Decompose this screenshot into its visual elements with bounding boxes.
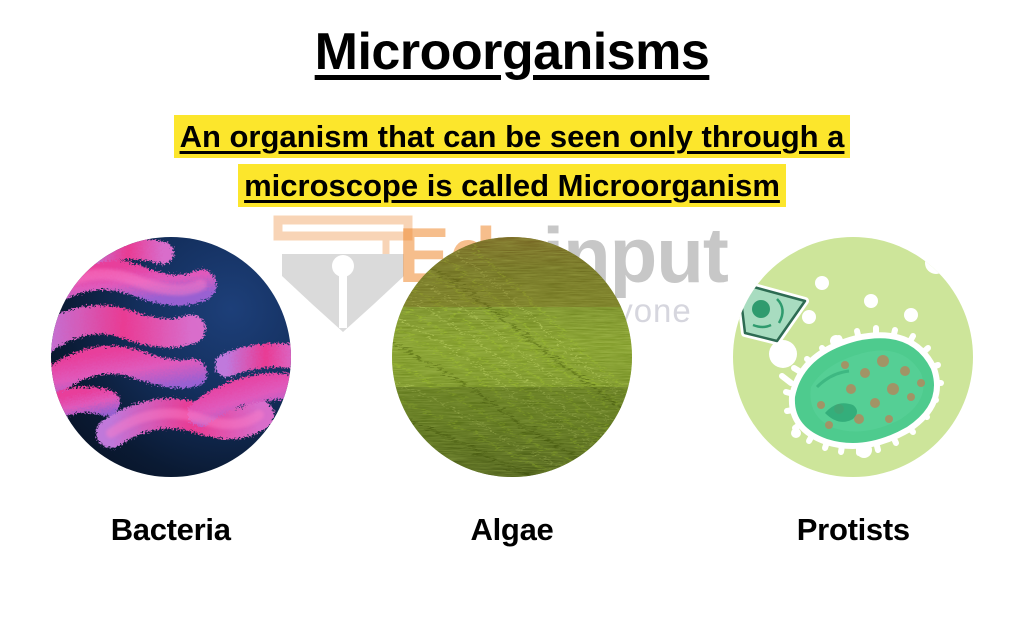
subtitle-line-1: An organism that can be seen only throug… [0,112,1024,161]
page-subtitle: An organism that can be seen only throug… [0,112,1024,210]
bacteria-image [51,237,291,477]
panel-algae: Algae [341,237,682,548]
bacteria-cells [51,237,291,477]
subtitle-line-1-text: An organism that can be seen only throug… [178,119,847,154]
panel-bacteria: Bacteria [0,237,341,548]
algae-filaments [392,237,632,477]
algae-image [392,237,632,477]
page-title: Microorganisms [0,22,1024,82]
subtitle-line-2-text: microscope is called Microorganism [242,168,782,203]
microorganism-panels: Bacteria [0,237,1024,548]
protists-image [733,237,973,477]
panel-algae-label: Algae [471,512,554,548]
panel-protists-label: Protists [797,512,910,548]
panel-bacteria-label: Bacteria [111,512,231,548]
protists-illustration [733,237,973,477]
panel-protists: Protists [683,237,1024,548]
subtitle-line-2: microscope is called Microorganism [0,161,1024,210]
